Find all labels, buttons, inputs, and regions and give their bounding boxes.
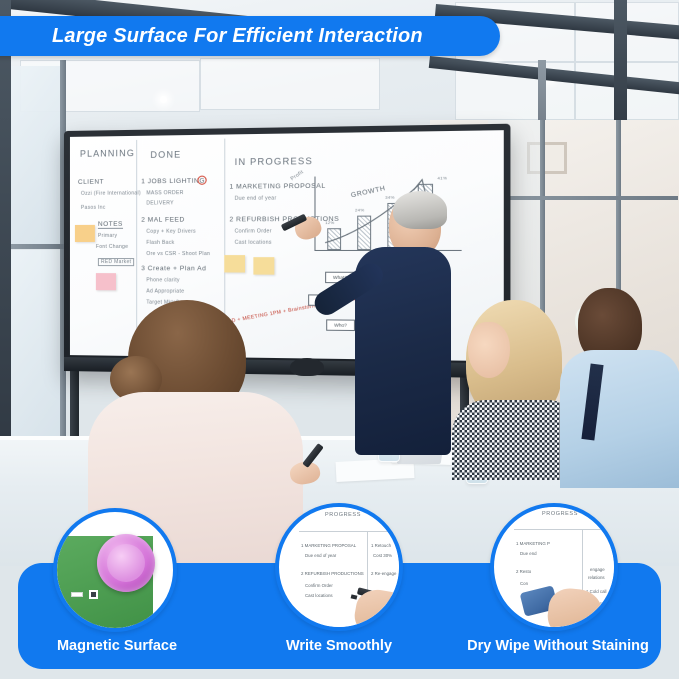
column-title-done: DONE [150, 149, 181, 160]
feature-label-dry-wipe: Dry Wipe Without Staining [446, 638, 670, 654]
window-mullion [488, 196, 678, 200]
done-heading: 1 JOBS LIGHTING [141, 178, 205, 186]
inprogress-item: Due end of year [235, 195, 277, 201]
mini-board-item: Confirm Order [305, 583, 333, 588]
mini-board-item: Cast locations [305, 593, 333, 598]
planning-heading: CLIENT [78, 179, 104, 186]
ceiling-light [160, 96, 167, 103]
vertical-beam [0, 0, 11, 470]
ceiling-panel [200, 58, 380, 110]
planning-note-item: Font Change [96, 244, 128, 250]
planning-item: Pasos Inc [81, 205, 106, 211]
board-chip [89, 590, 98, 599]
banner-title: Large Surface For Efficient Interaction [0, 25, 423, 48]
feature-label-write-smoothly: Write Smoothly [256, 638, 422, 654]
mini-board-item: relations [588, 575, 605, 580]
glass-panel [11, 250, 63, 440]
column-title-in-progress: IN PROGRESS [235, 156, 313, 167]
sticky-note-yellow [224, 255, 245, 272]
attendee-man-shirt [560, 350, 679, 488]
mini-board-item: Due end [520, 551, 537, 556]
urgent-circle-icon [197, 176, 206, 185]
magnet-on-green-board [57, 512, 173, 628]
board-chip [71, 592, 83, 597]
feature-thumb-write-smoothly[interactable]: PROGRESS 1 MARKETING PROPOSAL Due end of… [275, 503, 403, 631]
header-banner: Large Surface For Efficient Interaction [0, 16, 500, 56]
planning-item: Ozzi (Fire International) [81, 190, 141, 197]
planning-note-item: RED Market [98, 258, 134, 266]
mini-board-item: 1 MARKETING P [516, 541, 550, 546]
presenter-hair [393, 191, 447, 229]
column-title-planning: PLANNING [80, 148, 135, 159]
feature-thumb-dry-wipe[interactable]: PROGRESS 1 MARKETING P Due end 2 Resto C… [490, 503, 618, 631]
hand-erasing-with-eraser: PROGRESS 1 MARKETING P Due end 2 Resto C… [494, 507, 614, 627]
mini-board-heading: PROGRESS [542, 511, 578, 517]
mini-board-item: 1 MARKETING PROPOSAL [301, 543, 356, 548]
sticky-note-yellow [253, 257, 274, 275]
mini-board-item: Cost 30% [373, 553, 392, 558]
sticky-note-pink [96, 273, 116, 290]
feature-thumb-magnetic-surface[interactable] [53, 508, 177, 632]
planning-notes-heading: NOTES [98, 221, 123, 229]
done-item: DELIVERY [146, 200, 174, 206]
done-item: Flash Back [146, 240, 174, 246]
mini-board-heading: PROGRESS [325, 512, 361, 518]
product-marketing-image: Large Surface For Efficient Interaction … [0, 0, 679, 679]
done-heading: 3 Create + Plan Ad [141, 265, 206, 272]
chart-y-axis [314, 177, 315, 251]
mini-board-item: 2 Re-engage [371, 571, 396, 576]
hand-writing-with-marker: PROGRESS 1 MARKETING PROPOSAL Due end of… [279, 507, 399, 627]
mini-board-item: engage [590, 567, 605, 572]
inprogress-item: Confirm Order [235, 228, 272, 234]
attendee-woman-face [468, 322, 510, 378]
magnet-icon [97, 534, 155, 592]
glass-panel [11, 66, 63, 246]
attendee-man [560, 288, 679, 488]
mini-board-divider [299, 531, 399, 532]
planning-note-item: Primary [98, 233, 117, 239]
mini-board-item: Con [520, 581, 528, 586]
sticky-note-orange [75, 225, 95, 242]
vertical-beam [614, 0, 627, 140]
inprogress-item: Cast locations [235, 240, 272, 246]
done-item: Ad Appropriate [146, 288, 184, 294]
presenter [337, 195, 465, 455]
mini-board-item: Due end of year [305, 553, 336, 558]
magnet-inner [107, 544, 145, 582]
mini-board-item: 2 REFURBISH PRODUCTIONS [301, 571, 364, 576]
done-item: Phone clarity [146, 277, 179, 283]
done-item: Copy + Key Drivers [146, 229, 196, 235]
done-heading: 2 MAL FEED [141, 216, 185, 223]
done-item: Ore vs CSR - Shoot Plan [146, 251, 210, 257]
feature-label-magnetic-surface: Magnetic Surface [24, 638, 210, 654]
mini-board-divider [514, 529, 614, 530]
window-mullion [11, 244, 67, 249]
done-item: MASS ORDER [146, 190, 183, 196]
inprogress-heading: 1 MARKETING PROPOSAL [229, 183, 325, 191]
mini-board-item: 2 Resto [516, 569, 531, 574]
mini-board-item: 1 Retouch [371, 543, 391, 548]
chart-y-label: Profit [290, 169, 305, 182]
